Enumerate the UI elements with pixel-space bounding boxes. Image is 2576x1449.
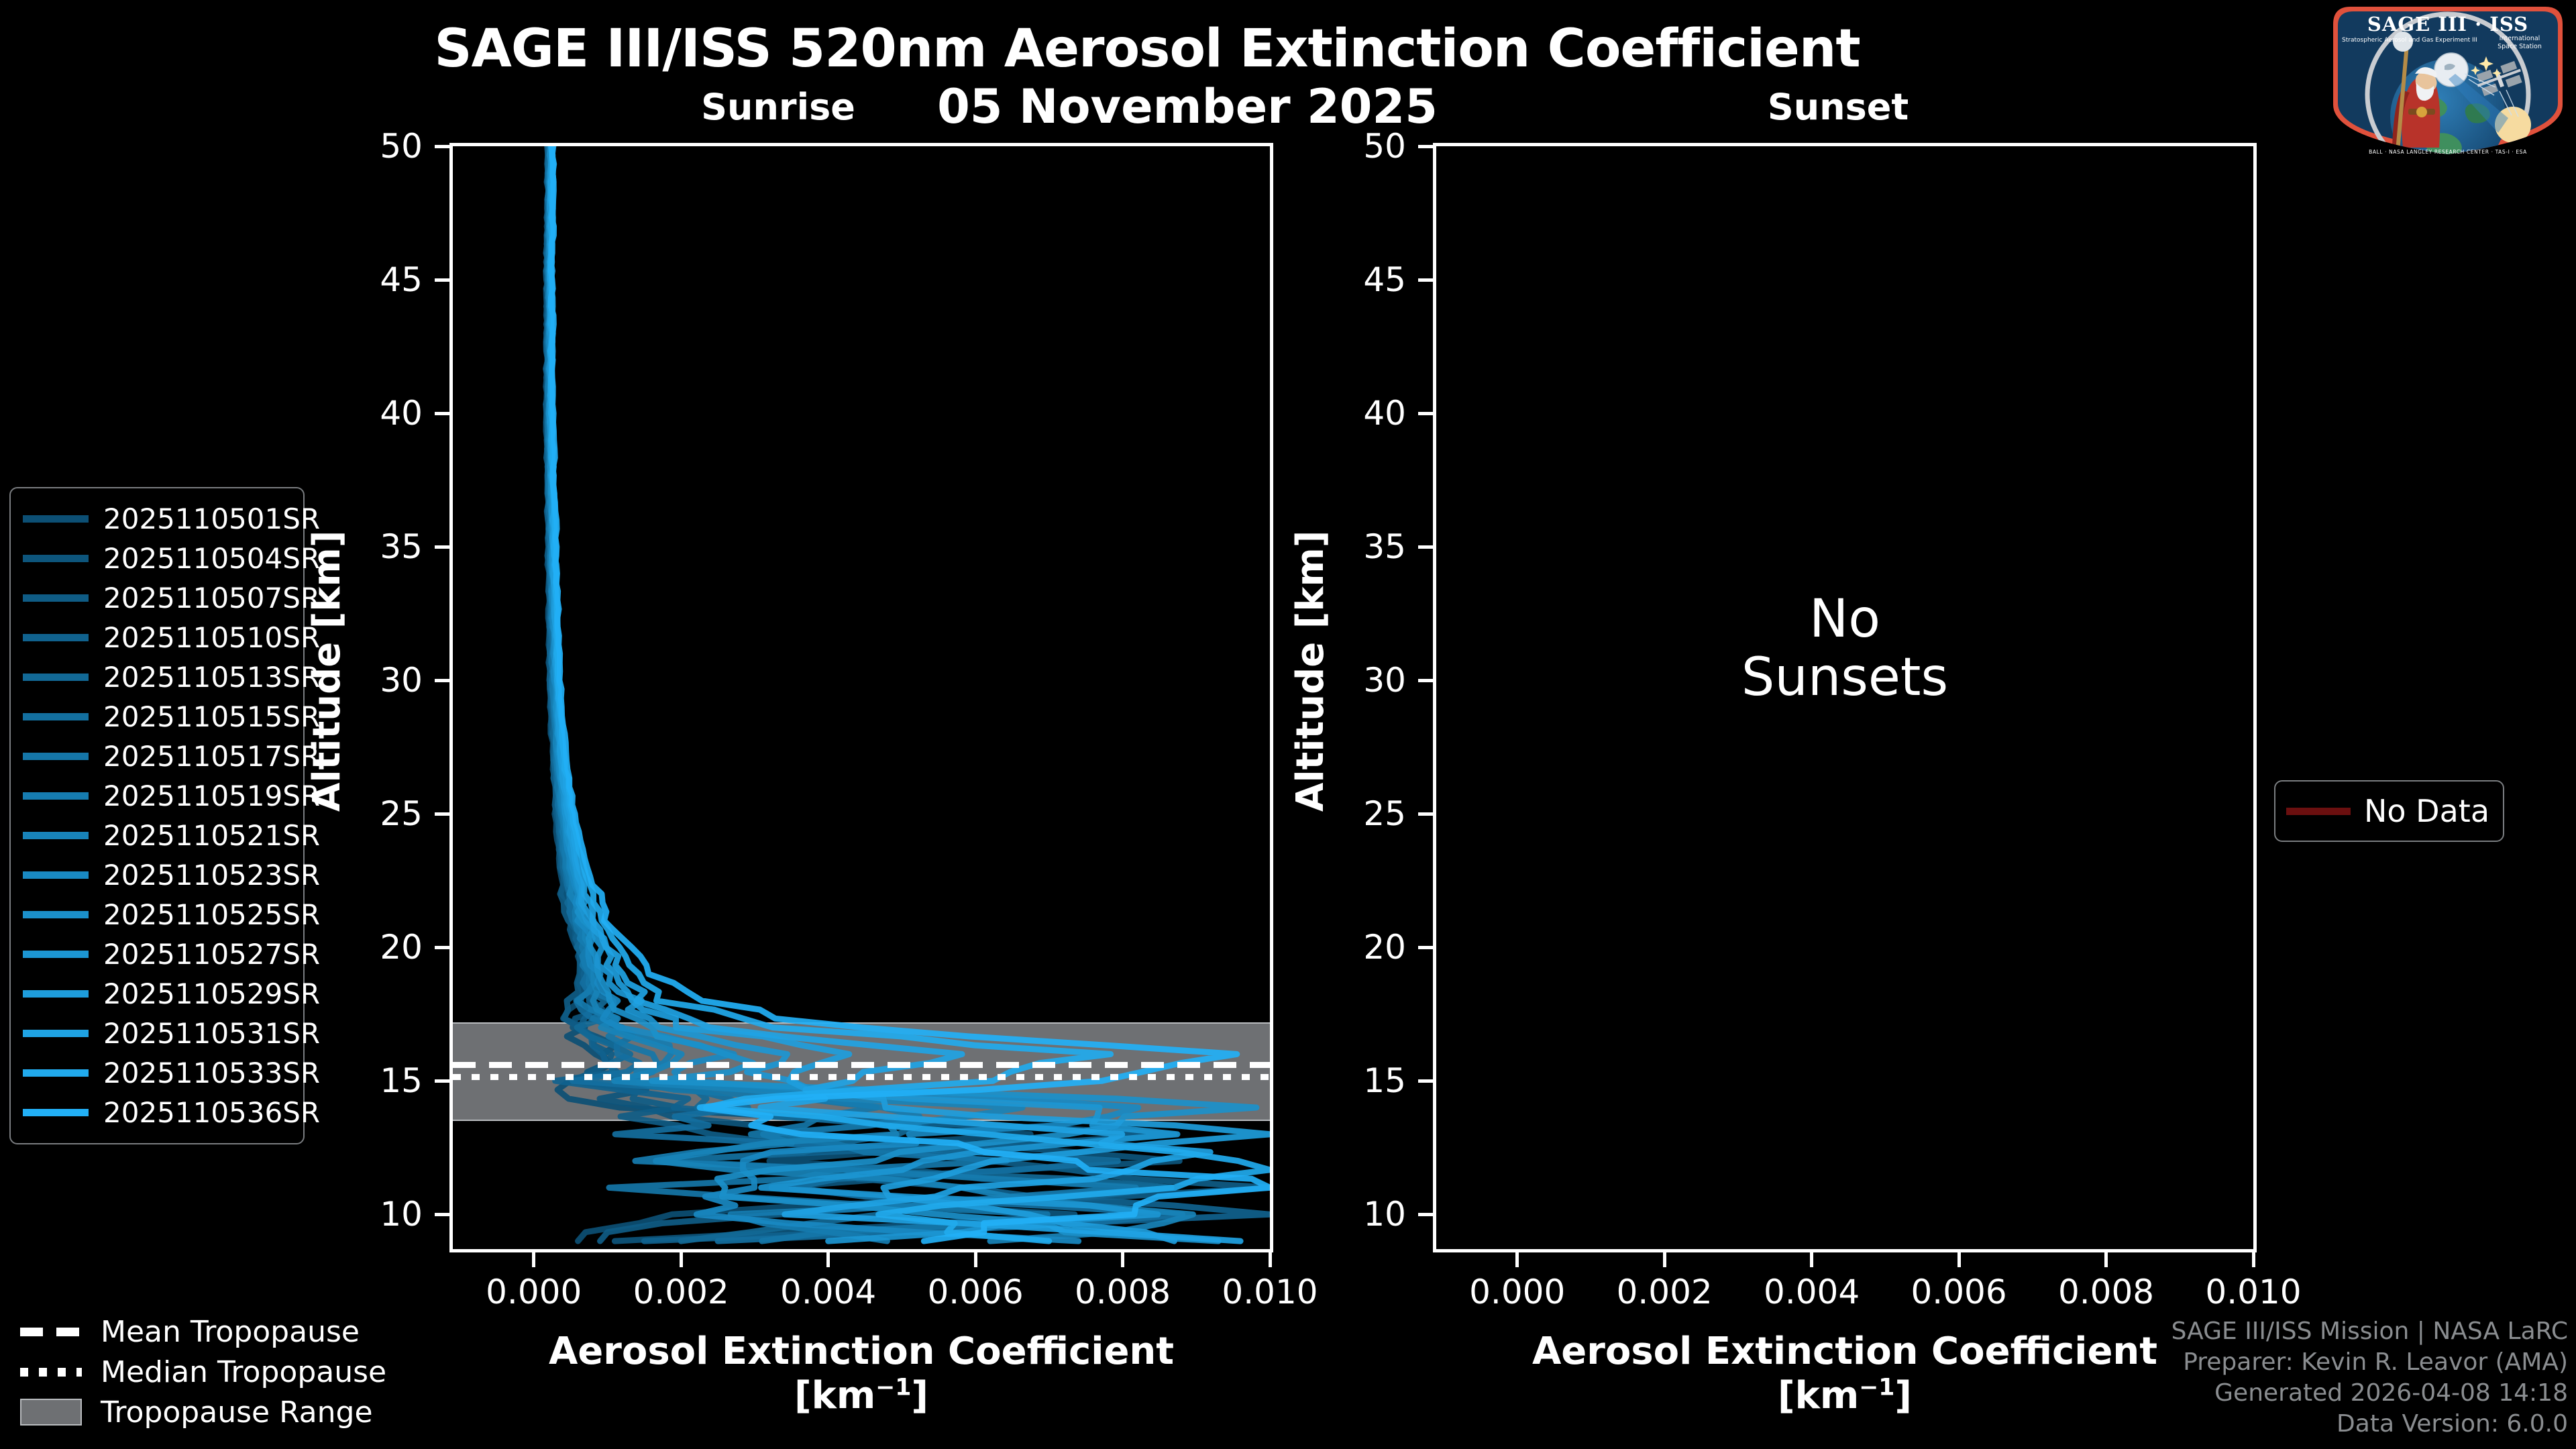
logo-title: SAGE III · ISS [2367,13,2528,36]
profile-legend-label: 2025110527SR [103,938,320,971]
list-item[interactable]: 2025110515SR [23,697,292,737]
y-tick-mark [1418,946,1433,949]
profile-line-swatch [23,990,89,998]
tropopause-legend-label: Mean Tropopause [101,1315,360,1349]
profile-line-swatch [23,1030,89,1037]
profile-line-swatch [23,911,89,918]
x-axis-unit: [km−1] [1433,1374,2257,1418]
list-item[interactable]: 2025110527SR [23,934,292,974]
y-tick-label: 40 [329,394,423,433]
profile-line-swatch [23,753,89,760]
dotted-line-swatch [20,1368,82,1377]
profile-line-swatch [23,1109,89,1116]
y-tick-mark [435,412,449,415]
list-item[interactable]: 2025110536SR [23,1093,292,1132]
profile-legend-label: 2025110525SR [103,898,320,931]
y-tick-mark [435,278,449,282]
profile-legend-label: 2025110515SR [103,700,320,733]
profile-legend-label: 2025110529SR [103,977,320,1010]
x-tick-mark [1810,1252,1813,1267]
y-tick-mark [435,946,449,949]
x-tick-mark [1269,1252,1272,1267]
x-tick-label: 0.004 [1731,1273,1892,1311]
x-tick-mark [1121,1252,1124,1267]
profile-legend-label: 2025110533SR [103,1057,320,1089]
logo-subtitle-right-2: Space Station [2498,43,2542,50]
list-item[interactable]: 2025110513SR [23,657,292,697]
x-tick-label: 0.010 [1189,1273,1350,1311]
y-tick-mark [1418,1213,1433,1216]
list-item[interactable]: 2025110510SR [23,618,292,657]
credits-line-preparer: Preparer: Kevin R. Leavor (AMA) [2171,1347,2568,1378]
y-tick-mark [1418,412,1433,415]
profile-legend-label: 2025110507SR [103,582,320,614]
plot-area-sunrise [449,143,1273,1252]
y-tick-mark [1418,1079,1433,1083]
profile-line-swatch [23,1069,89,1077]
y-tick-label: 45 [1312,260,1406,299]
profile-legend-label: 2025110531SR [103,1017,320,1050]
list-item[interactable]: Mean Tropopause [20,1311,386,1352]
y-tick-mark [1418,679,1433,682]
profile-legend-label: 2025110523SR [103,859,320,892]
x-axis-label-text: Aerosol Extinction Coefficient [549,1330,1174,1373]
tropopause-legend-label: Median Tropopause [101,1355,386,1389]
y-tick-mark [435,812,449,816]
profile-legend-label: 2025110521SR [103,819,320,852]
profile-legend-label: 2025110504SR [103,542,320,575]
x-tick-mark [826,1252,830,1267]
legend-profiles[interactable]: 2025110501SR2025110504SR2025110507SR2025… [9,487,305,1144]
x-axis-label-text: Aerosol Extinction Coefficient [1532,1330,2157,1373]
median-tropopause-line [453,1074,1270,1080]
credits-line-mission: SAGE III/ISS Mission | NASA LaRC [2171,1316,2568,1347]
x-tick-label: 0.004 [748,1273,909,1311]
tropopause-range-swatch [20,1399,82,1426]
list-item[interactable]: 2025110533SR [23,1053,292,1093]
legend-no-data[interactable]: No Data [2274,780,2504,842]
x-tick-mark [974,1252,977,1267]
panel-title-sunset: Sunset [1650,86,2026,128]
sage-iii-iss-mission-patch-logo: BALL · NASA LANGLEY RESEARCH CENTER · TA… [2330,4,2565,157]
profile-line-swatch [23,832,89,839]
x-tick-mark [532,1252,535,1267]
credits-block: SAGE III/ISS Mission | NASA LaRC Prepare… [2171,1316,2568,1440]
y-tick-mark [1418,812,1433,816]
y-tick-mark [435,679,449,682]
y-tick-label: 20 [329,928,423,967]
x-tick-label: 0.000 [453,1273,614,1311]
tropopause-legend-label: Tropopause Range [101,1395,373,1430]
y-tick-label: 45 [329,260,423,299]
x-tick-mark [1957,1252,1961,1267]
y-tick-mark [1418,545,1433,549]
list-item[interactable]: 2025110517SR [23,737,292,776]
x-tick-mark [1515,1252,1519,1267]
no-sunsets-message: No Sunsets [1433,590,2257,708]
no-sunsets-line2: Sunsets [1433,649,2257,707]
profile-line-swatch [23,594,89,602]
profile-line-swatch [23,713,89,720]
list-item[interactable]: 2025110521SR [23,816,292,855]
list-item[interactable]: 2025110501SR [23,499,292,539]
x-tick-mark [1663,1252,1666,1267]
x-tick-label: 0.002 [1584,1273,1745,1311]
y-tick-mark [435,145,449,148]
list-item[interactable]: 2025110523SR [23,855,292,895]
profile-legend-label: 2025110501SR [103,502,320,535]
y-tick-label: 15 [1312,1061,1406,1100]
y-tick-label: 15 [329,1061,423,1100]
y-tick-label: 40 [1312,394,1406,433]
list-item[interactable]: 2025110519SR [23,776,292,816]
y-tick-mark [1418,278,1433,282]
y-tick-label: 50 [1312,127,1406,166]
credits-line-version: Data Version: 6.0.0 [2171,1409,2568,1440]
y-tick-mark [435,1079,449,1083]
y-tick-label: 20 [1312,928,1406,967]
profile-legend-label: 2025110513SR [103,661,320,694]
aerosol-profile-curves [453,146,1270,1249]
no-data-line-swatch [2286,808,2351,815]
x-tick-label: 0.008 [2026,1273,2187,1311]
mean-tropopause-line [453,1062,1270,1068]
profile-legend-label: 2025110536SR [103,1096,320,1129]
profile-line-swatch [23,951,89,958]
x-tick-mark [2252,1252,2255,1267]
x-tick-label: 0.000 [1437,1273,1598,1311]
profile-legend-label: 2025110510SR [103,621,320,654]
panel-title-sunrise: Sunrise [590,86,966,128]
x-tick-label: 0.006 [895,1273,1056,1311]
profile-line-swatch [23,515,89,523]
x-axis-label-right: Aerosol Extinction Coefficient [km−1] [1433,1330,2257,1418]
list-item[interactable]: 2025110529SR [23,974,292,1014]
profile-line-swatch [23,674,89,681]
page-title: SAGE III/ISS 520nm Aerosol Extinction Co… [0,19,2294,79]
list-item[interactable]: 2025110507SR [23,578,292,618]
y-tick-mark [435,1213,449,1216]
list-item[interactable]: No Data [2286,790,2489,833]
x-axis-label-left: Aerosol Extinction Coefficient [km−1] [449,1330,1273,1418]
x-tick-label: 0.010 [2173,1273,2334,1311]
profile-line-swatch [23,634,89,641]
no-data-label: No Data [2364,793,2489,829]
profile-line-swatch [23,555,89,562]
y-tick-label: 50 [329,127,423,166]
no-sunsets-line1: No [1433,590,2257,649]
list-item[interactable]: 2025110504SR [23,539,292,578]
y-tick-label: 10 [1312,1195,1406,1234]
logo-ring-text: BALL · NASA LANGLEY RESEARCH CENTER · TA… [2369,149,2527,155]
profile-line-swatch [23,792,89,800]
y-tick-mark [435,545,449,549]
profile-legend-label: 2025110519SR [103,780,320,812]
y-axis-label-right: Altitude [km] [1289,531,1332,812]
x-tick-mark [680,1252,683,1267]
y-tick-label: 10 [329,1195,423,1234]
x-axis-unit: [km−1] [449,1374,1273,1418]
list-item[interactable]: Tropopause Range [20,1392,386,1432]
x-tick-label: 0.006 [1878,1273,2039,1311]
list-item[interactable]: 2025110525SR [23,895,292,934]
legend-tropopause[interactable]: Mean TropopauseMedian TropopauseTropopau… [20,1311,386,1432]
list-item[interactable]: 2025110531SR [23,1014,292,1053]
logo-subtitle-left: Stratospheric Aerosol and Gas Experiment… [2342,37,2477,44]
logo-subtitle-right-1: International [2500,35,2540,42]
y-tick-mark [1418,145,1433,148]
x-tick-label: 0.002 [600,1273,761,1311]
profile-line-swatch [23,871,89,879]
x-tick-mark [2104,1252,2108,1267]
list-item[interactable]: Median Tropopause [20,1352,386,1392]
dashed-line-swatch [20,1328,82,1336]
profile-legend-label: 2025110517SR [103,740,320,773]
x-tick-label: 0.008 [1042,1273,1203,1311]
credits-line-generated: Generated 2026-04-08 14:18 [2171,1378,2568,1409]
